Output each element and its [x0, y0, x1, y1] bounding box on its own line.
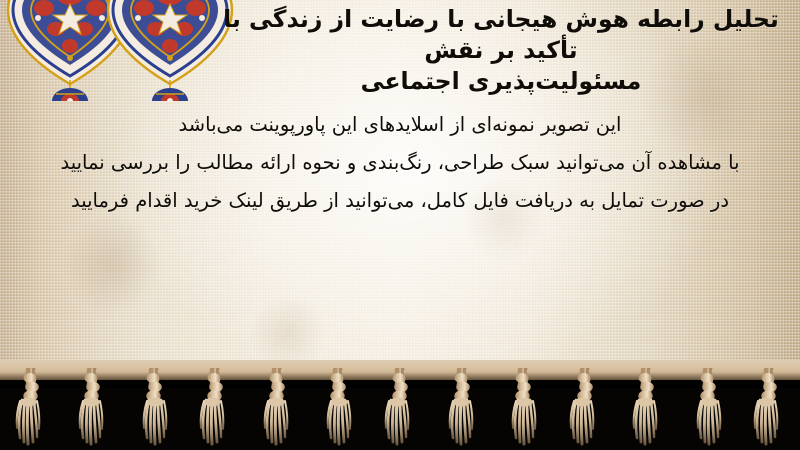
tassel: [137, 368, 171, 450]
ornament-group: [0, 0, 245, 101]
tassel: [506, 368, 540, 450]
slide-body-line-1: این تصویر نمونه‌ای از اسلایدهای این پاور…: [18, 106, 782, 144]
presentation-slide: تحلیل رابطه هوش هیجانی با رضایت از زندگی…: [0, 0, 800, 450]
tassel: [568, 368, 602, 450]
slide-title-line-2: مسئولیت‌پذیری اجتماعی: [210, 66, 792, 97]
tassel: [260, 368, 294, 450]
tassel: [198, 368, 232, 450]
slide-body-line-2: با مشاهده آن می‌توانید سبک طراحی، رنگ‌بن…: [18, 144, 782, 182]
tassel-row: [0, 368, 800, 450]
tassel: [629, 368, 663, 450]
tassel: [445, 368, 479, 450]
slide-body-block: این تصویر نمونه‌ای از اسلایدهای این پاور…: [18, 106, 782, 220]
slide-title-block: تحلیل رابطه هوش هیجانی با رضایت از زندگی…: [210, 4, 792, 97]
tassel: [383, 368, 417, 450]
slide-body-line-3: در صورت تمایل به دریافت فایل کامل، می‌تو…: [18, 182, 782, 220]
tassel: [752, 368, 786, 450]
tassel: [75, 368, 109, 450]
tassel: [14, 368, 48, 450]
tassel: [691, 368, 725, 450]
slide-title-line-1: تحلیل رابطه هوش هیجانی با رضایت از زندگی…: [210, 4, 792, 66]
knotted-tassel-fringe: [0, 360, 800, 450]
tassel: [321, 368, 355, 450]
